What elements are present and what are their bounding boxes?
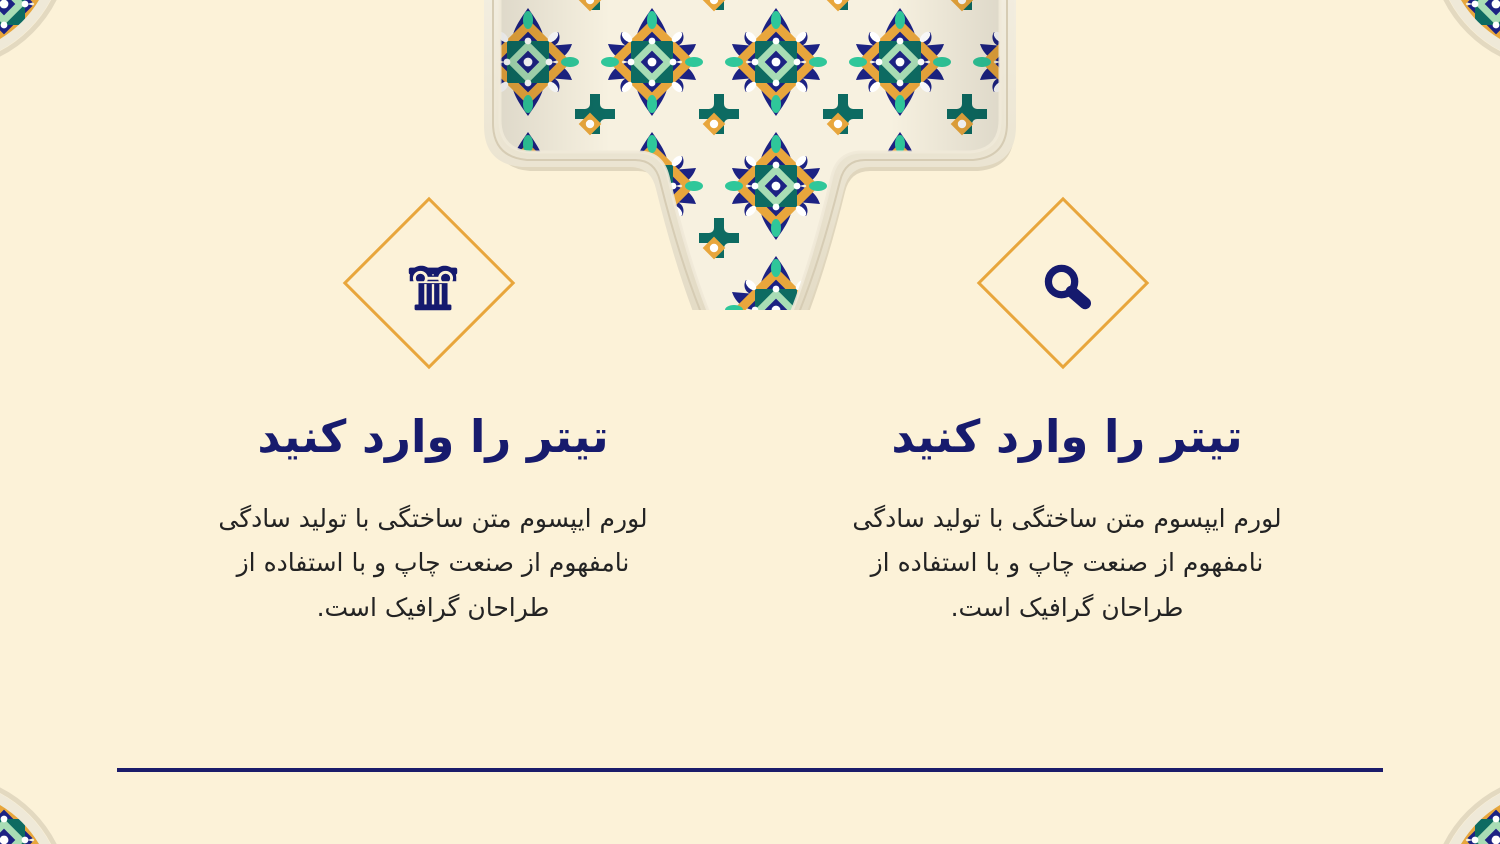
- feature-columns: تیتر را وارد کنید لورم ایپسوم متن ساختگی…: [0, 196, 1500, 630]
- corner-ornament-bottom-left: [0, 752, 92, 844]
- feature-icon-badge-left[interactable]: [976, 196, 1158, 378]
- slide-canvas: تیتر را وارد کنید لورم ایپسوم متن ساختگی…: [0, 0, 1500, 844]
- feature-card-left: تیتر را وارد کنید لورم ایپسوم متن ساختگی…: [792, 196, 1342, 630]
- feature-card-right: تیتر را وارد کنید لورم ایپسوم متن ساختگی…: [158, 196, 708, 630]
- corner-ornament-bottom-right: [1408, 752, 1500, 844]
- corner-ornament-top-left: [0, 0, 92, 92]
- feature-title-right: تیتر را وارد کنید: [257, 410, 608, 465]
- bottom-divider-rule: [117, 768, 1383, 772]
- feature-title-left: تیتر را وارد کنید: [891, 410, 1242, 465]
- search-icon: [1035, 255, 1099, 319]
- feature-body-left: لورم ایپسوم متن ساختگی با تولید سادگی نا…: [847, 497, 1287, 631]
- column-icon: [401, 255, 465, 319]
- feature-body-right: لورم ایپسوم متن ساختگی با تولید سادگی نا…: [213, 497, 653, 631]
- corner-ornament-top-right: [1408, 0, 1500, 92]
- feature-icon-badge-right[interactable]: [342, 196, 524, 378]
